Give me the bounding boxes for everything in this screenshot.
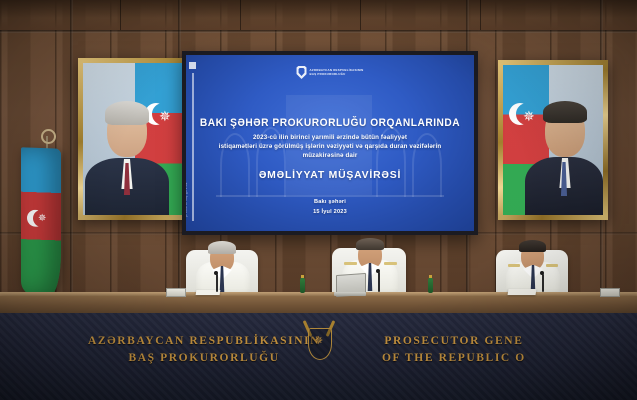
panel-en-line1: PROSECUTOR GENE xyxy=(382,333,526,350)
papers-right xyxy=(508,289,537,295)
star-icon: ✵ xyxy=(159,109,171,123)
panel-en-line2: OF THE REPUBLIC O xyxy=(382,350,526,367)
podium-front-panel: AZƏRBAYCAN RESPUBLİKASININ BAŞ PROKURORL… xyxy=(0,313,637,400)
laptop-base xyxy=(334,292,366,296)
ceiling xyxy=(0,0,637,30)
screen-logo: AZƏRBAYCAN RESPUBLİKASININ BAŞ PROKURORL… xyxy=(297,66,364,79)
microphone-center xyxy=(378,272,380,292)
eight-point-star-icon: ✵ xyxy=(38,214,46,224)
portrait-left: ✵ xyxy=(78,58,192,220)
microphone-right xyxy=(542,274,544,292)
screen-subtitle-line1: 2023-cü ilin birinci yarımili ərzində bü… xyxy=(212,134,448,143)
projection-screen[interactable]: prokurorluq.gov.az AZƏRBAYCAN RESPUBLİKA… xyxy=(186,55,474,231)
flag-pole-finial xyxy=(41,129,56,144)
screen-logo-line2: BAŞ PROKURORLUĞU xyxy=(310,73,364,77)
portrait-figure-hair xyxy=(105,101,149,125)
panel-title-english: PROSECUTOR GENE OF THE REPUBLIC O xyxy=(382,333,526,366)
nameplate-left xyxy=(166,288,186,297)
nameplate-right xyxy=(600,288,620,297)
microphone-left xyxy=(216,274,218,292)
prosecutor-emblem-icon xyxy=(297,66,307,79)
star-icon: ✵ xyxy=(523,109,535,123)
bottle-cap-center xyxy=(429,275,432,278)
bottle-cap-right xyxy=(301,275,304,278)
projection-screen-frame: prokurorluq.gov.az AZƏRBAYCAN RESPUBLİKA… xyxy=(182,51,478,235)
screen-city: Bakı şəhəri xyxy=(186,198,474,208)
microphone-head-left xyxy=(214,271,218,275)
panel-az-line1: AZƏRBAYCAN RESPUBLİKASININ xyxy=(88,333,320,350)
portrait-figure-hair xyxy=(543,101,587,123)
screen-subtitle-line3: müzakirəsinə dair xyxy=(212,152,448,161)
portrait-right: ✵ xyxy=(498,60,608,220)
water-bottle-right xyxy=(300,278,305,293)
conference-photo: ✵ ✵ prokurorluq.gov.az xyxy=(0,0,637,400)
screen-heading: BAKI ŞƏHƏR PROKURORLUĞU ORQANLARINDA xyxy=(192,117,468,129)
screen-corner-marker xyxy=(189,62,196,69)
screen-date: 15 İyul 2023 xyxy=(186,208,474,218)
panel-az-line2: BAŞ PROKURORLUĞU xyxy=(88,350,320,367)
microphone-head-center xyxy=(376,269,380,273)
prosecutor-general-crest-icon: ✵ xyxy=(302,320,336,362)
screen-event-title: ƏMƏLİYYAT MÜŞAVİRƏSİ xyxy=(186,170,474,181)
panel-title-azerbaijani: AZƏRBAYCAN RESPUBLİKASININ BAŞ PROKURORL… xyxy=(88,333,320,366)
screen-text-block: BAKI ŞƏHƏR PROKURORLUĞU ORQANLARINDA 202… xyxy=(186,117,474,181)
screen-subtitle-line2: istiqamətləri üzrə görülmüş işlərin vəzi… xyxy=(212,143,448,152)
water-bottle-center xyxy=(428,278,433,293)
screen-footer: Bakı şəhəri 15 İyul 2023 xyxy=(186,198,474,217)
azerbaijan-flag: ✵ xyxy=(21,147,61,296)
microphone-head-right xyxy=(540,271,544,275)
